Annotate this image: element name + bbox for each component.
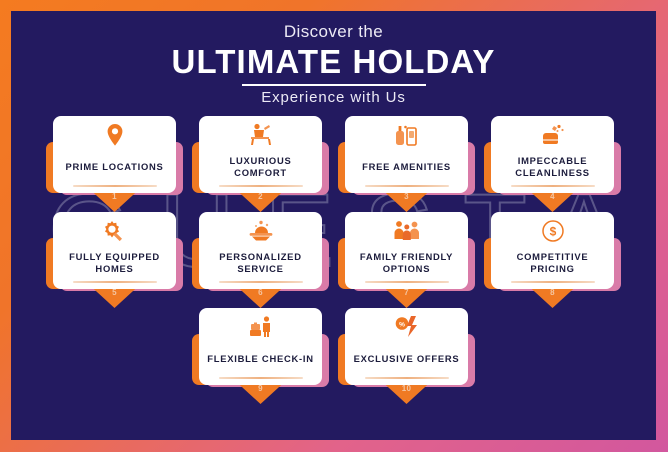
card-underline — [219, 281, 303, 283]
feature-card[interactable]: 4 IMPECCABLE CLEANLINESS — [491, 116, 614, 193]
card-number-pointer: 2 — [237, 190, 285, 212]
feature-row: 1 PRIME LOCATIONS 2 — [11, 116, 656, 193]
card-label: EXCLUSIVE OFFERS — [354, 341, 460, 377]
card-underline — [219, 377, 303, 379]
card-label: PERSONALIZED SERVICE — [205, 245, 316, 281]
card-underline — [365, 281, 449, 283]
card-label: FULLY EQUIPPED HOMES — [59, 245, 170, 281]
page-title: ULTIMATE HOLDAY — [11, 43, 656, 81]
card-body[interactable]: IMPECCABLE CLEANLINESS — [491, 116, 614, 193]
card-underline — [73, 185, 157, 187]
card-body[interactable]: LUXURIOUS COMFORT — [199, 116, 322, 193]
feature-card[interactable]: 8 $ COMPETITIVE PRICING — [491, 212, 614, 289]
feature-row: 5 FULLY EQUIPPED HOMES 6 — [11, 212, 656, 289]
card-body[interactable]: $ COMPETITIVE PRICING — [491, 212, 614, 289]
card-number-pointer: 4 — [529, 190, 577, 212]
card-underline — [511, 281, 595, 283]
card-body[interactable]: PERSONALIZED SERVICE — [199, 212, 322, 289]
card-number-pointer: 6 — [237, 286, 285, 308]
poster: GUESTA Discover the ULTIMATE HOLDAY Expe… — [0, 0, 668, 452]
gear-wrench-icon — [102, 219, 128, 243]
card-number-pointer: 8 — [529, 286, 577, 308]
card-body[interactable]: FREE AMENITIES — [345, 116, 468, 193]
feature-card[interactable]: 9 FLEXIBLE CHECK-IN — [199, 308, 322, 385]
card-label: FREE AMENITIES — [362, 149, 451, 185]
card-label: IMPECCABLE CLEANLINESS — [497, 149, 608, 185]
header-subline: Experience with Us — [11, 88, 656, 108]
card-underline — [511, 185, 595, 187]
card-label: LUXURIOUS COMFORT — [205, 149, 316, 185]
card-body[interactable]: FULLY EQUIPPED HOMES — [53, 212, 176, 289]
card-number-pointer: 10 — [383, 382, 431, 404]
feature-row: 9 FLEXIBLE CHECK-IN 10 — [11, 308, 656, 385]
card-label: PRIME LOCATIONS — [65, 149, 163, 185]
cleaning-spray-icon — [540, 123, 566, 147]
poster-stage: GUESTA Discover the ULTIMATE HOLDAY Expe… — [11, 11, 656, 440]
svg-text:$: $ — [549, 225, 556, 239]
location-pin-icon — [104, 123, 126, 147]
card-underline — [73, 281, 157, 283]
toiletries-icon — [394, 123, 420, 147]
card-number-pointer: 3 — [383, 190, 431, 212]
card-underline — [219, 185, 303, 187]
dollar-coin-icon: $ — [541, 219, 565, 243]
svg-text:%: % — [399, 322, 405, 329]
card-number-pointer: 5 — [91, 286, 139, 308]
card-label: COMPETITIVE PRICING — [497, 245, 608, 281]
family-group-icon — [393, 219, 421, 243]
card-body[interactable]: PRIME LOCATIONS — [53, 116, 176, 193]
title-divider — [242, 84, 426, 86]
card-number-pointer: 1 — [91, 190, 139, 212]
feature-card[interactable]: 10 % EXCLUSIVE OFFERS — [345, 308, 468, 385]
card-underline — [365, 377, 449, 379]
lounge-chair-icon — [248, 123, 274, 147]
room-service-icon — [248, 219, 274, 243]
feature-card[interactable]: 6 PERSONALIZED SERVICE — [199, 212, 322, 289]
feature-card[interactable]: 3 FREE AMENITIES — [345, 116, 468, 193]
card-underline — [365, 185, 449, 187]
poster-header: Discover the ULTIMATE HOLDAY Experience … — [11, 11, 656, 108]
card-body[interactable]: FAMILY FRIENDLY OPTIONS — [345, 212, 468, 289]
feature-card[interactable]: 1 PRIME LOCATIONS — [53, 116, 176, 193]
header-kicker: Discover the — [11, 22, 656, 42]
feature-card[interactable]: 2 LUXURIOUS COMFORT — [199, 116, 322, 193]
card-number-pointer: 9 — [237, 382, 285, 404]
check-in-desk-icon — [248, 315, 274, 339]
card-label: FLEXIBLE CHECK-IN — [207, 341, 314, 377]
card-label: FAMILY FRIENDLY OPTIONS — [351, 245, 462, 281]
card-number-pointer: 7 — [383, 286, 431, 308]
card-body[interactable]: FLEXIBLE CHECK-IN — [199, 308, 322, 385]
feature-card[interactable]: 7 FAMILY FRIENDLY OPTIONS — [345, 212, 468, 289]
feature-card-grid: 1 PRIME LOCATIONS 2 — [11, 116, 656, 385]
feature-card[interactable]: 5 FULLY EQUIPPED HOMES — [53, 212, 176, 289]
card-body[interactable]: % EXCLUSIVE OFFERS — [345, 308, 468, 385]
discount-tag-icon: % — [394, 315, 420, 339]
